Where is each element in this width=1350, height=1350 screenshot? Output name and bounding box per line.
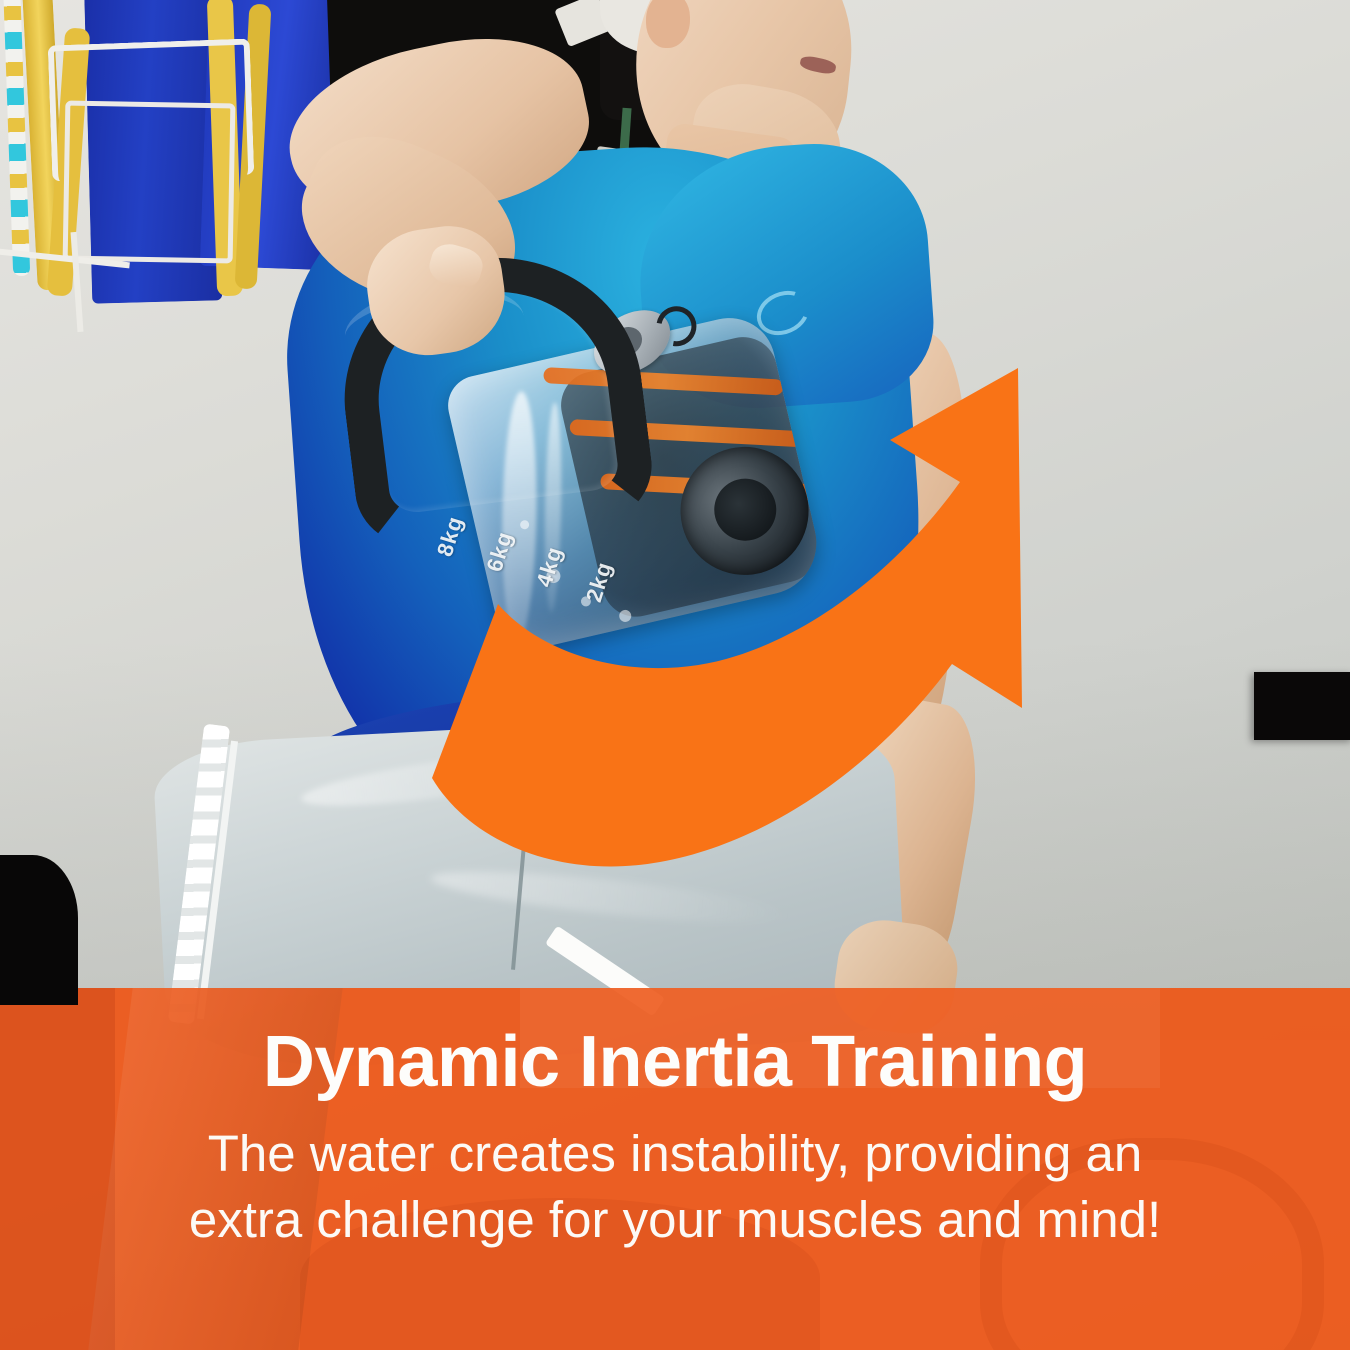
product-marketing-poster: 8kg 6kg 4kg 2kg Dynamic Inertia T — [0, 0, 1350, 1350]
chair-metal-frame-2 — [63, 101, 236, 264]
corner-dark-object — [0, 855, 78, 1005]
banner-subtitle-line-1: The water creates instability, providing… — [0, 1121, 1350, 1186]
banner-title: Dynamic Inertia Training — [0, 1026, 1350, 1099]
banner-subtitle: The water creates instability, providing… — [0, 1121, 1350, 1252]
wall-mounted-black-bar — [1254, 672, 1350, 740]
banner-subtitle-line-2: extra challenge for your muscles and min… — [0, 1187, 1350, 1252]
banner-content: Dynamic Inertia Training The water creat… — [0, 988, 1350, 1252]
marketing-banner: Dynamic Inertia Training The water creat… — [0, 988, 1350, 1350]
